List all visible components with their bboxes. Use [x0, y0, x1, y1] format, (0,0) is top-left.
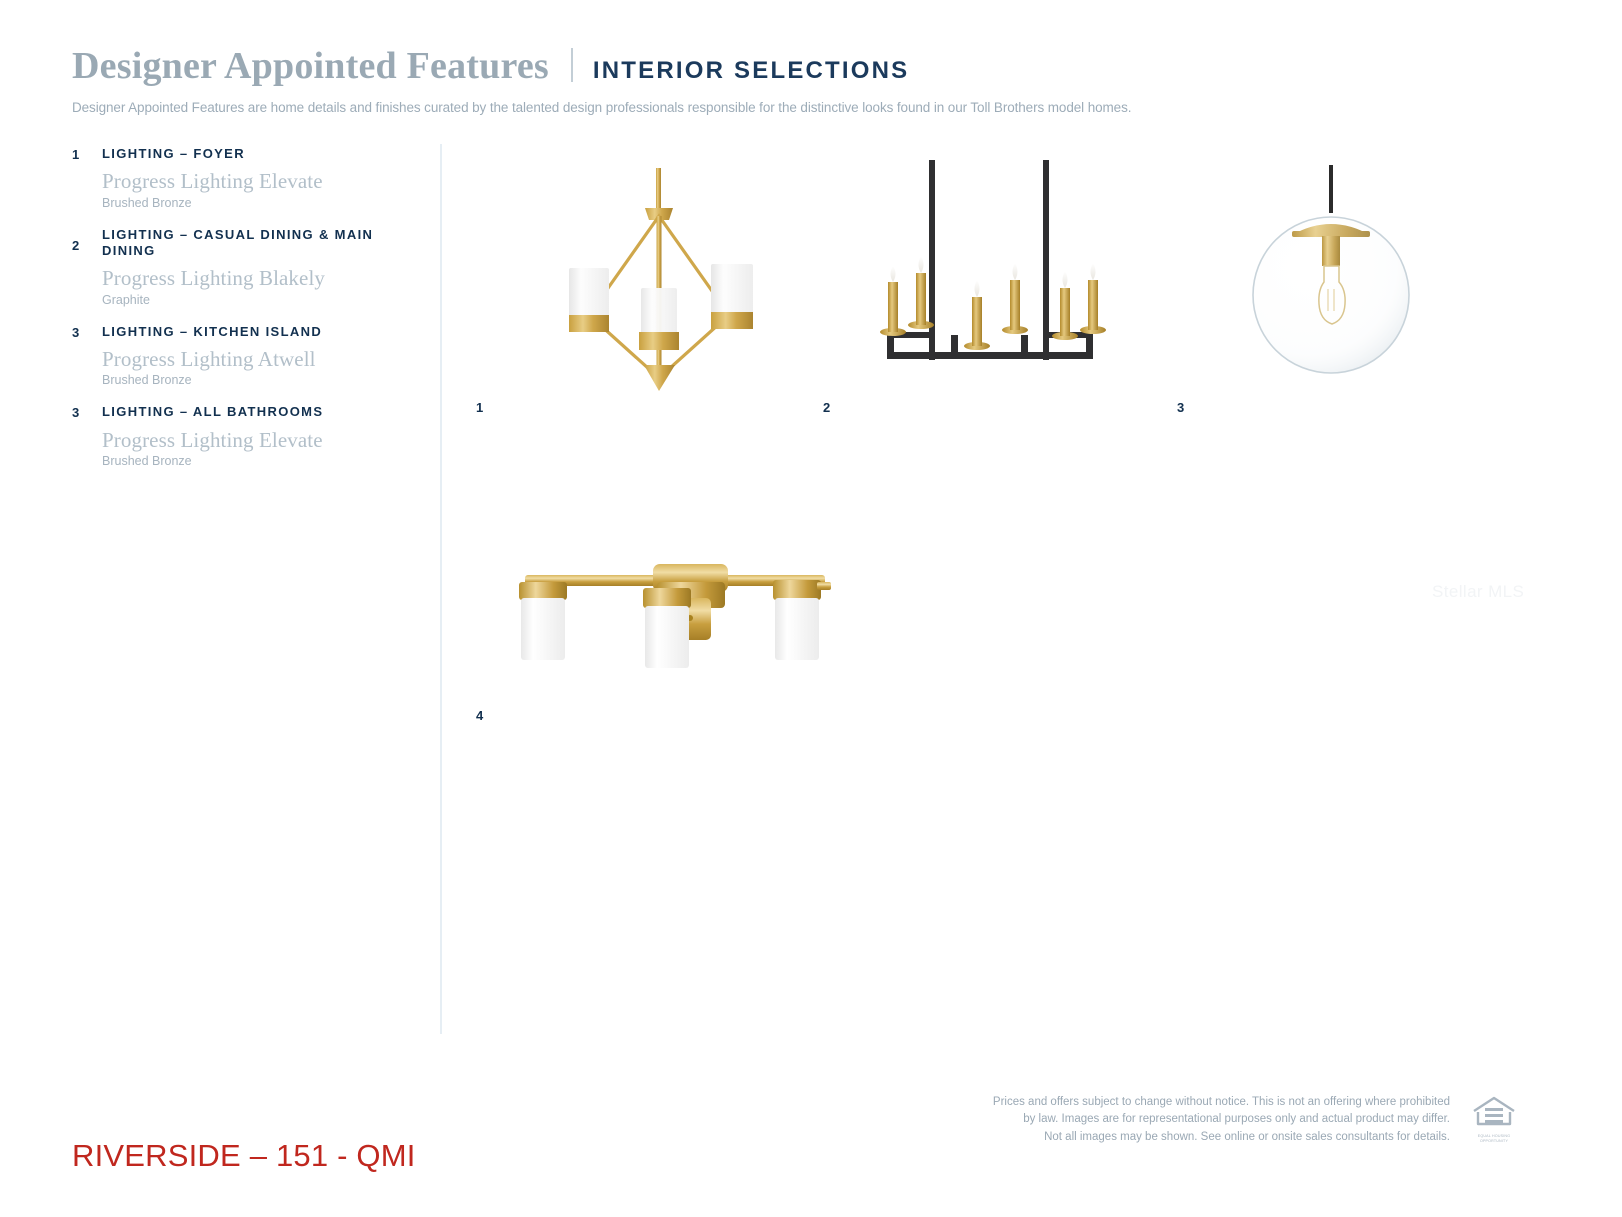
list-item-product: Progress Lighting Elevate: [102, 425, 422, 455]
community-title: RIVERSIDE – 151 - QMI: [72, 1138, 416, 1174]
list-item: 3 LIGHTING – KITCHEN ISLAND Progress Lig…: [72, 324, 422, 403]
figure-number-1: 1: [476, 400, 483, 415]
list-item-finish: Brushed Bronze: [102, 454, 422, 469]
page-header: Designer Appointed Features INTERIOR SEL…: [72, 44, 1532, 115]
title-row: Designer Appointed Features INTERIOR SEL…: [72, 44, 1532, 87]
figure-dining-chandelier: [865, 160, 1115, 390]
equal-housing-opportunity-logo: EQUAL HOUSING OPPORTUNITY: [1466, 1094, 1522, 1143]
figure-number-2: 2: [823, 400, 830, 415]
selections-list: 1 LIGHTING – FOYER Progress Lighting Ele…: [72, 146, 422, 485]
header-description: Designer Appointed Features are home det…: [72, 100, 1532, 115]
list-item-product: Progress Lighting Elevate: [102, 166, 422, 196]
list-item-product: Progress Lighting Blakely: [102, 263, 422, 293]
legal-line-3: Not all images may be shown. See online …: [993, 1129, 1450, 1146]
list-item-number: 3: [72, 404, 102, 420]
figure-island-pendant: [1240, 165, 1430, 390]
page-title: Designer Appointed Features: [72, 47, 549, 87]
list-item-category: LIGHTING – CASUAL DINING & MAIN DINING: [102, 227, 422, 260]
list-item-number: 3: [72, 324, 102, 340]
globe-pendant-icon: [1240, 165, 1430, 390]
list-item-category: LIGHTING – FOYER: [102, 146, 422, 162]
dining-linear-chandelier-icon: [865, 160, 1115, 390]
eho-caption-line-2: OPPORTUNITY: [1466, 1139, 1522, 1143]
figure-foyer-chandelier: [545, 160, 775, 400]
list-item-product: Progress Lighting Atwell: [102, 344, 422, 374]
list-item-finish: Brushed Bronze: [102, 196, 422, 211]
eho-caption-line-1: EQUAL HOUSING: [1466, 1134, 1522, 1138]
vanity-bar-icon: [505, 540, 845, 670]
figure-bathroom-vanity: [505, 540, 845, 670]
equal-housing-icon: [1471, 1094, 1517, 1128]
vertical-divider: [440, 144, 442, 1034]
list-item-finish: Brushed Bronze: [102, 373, 422, 388]
list-item-number: 2: [72, 227, 102, 253]
brochure-page: Designer Appointed Features INTERIOR SEL…: [0, 0, 1622, 1217]
legal-line-1: Prices and offers subject to change with…: [993, 1094, 1450, 1111]
list-item: 3 LIGHTING – ALL BATHROOMS Progress Ligh…: [72, 404, 422, 483]
legal-disclaimer: Prices and offers subject to change with…: [993, 1094, 1450, 1146]
legal-line-2: by law. Images are for representational …: [993, 1111, 1450, 1128]
foyer-chandelier-icon: [545, 160, 775, 400]
list-item-number: 1: [72, 146, 102, 162]
figure-number-4: 4: [476, 708, 483, 723]
stellar-mls-watermark: Stellar MLS: [1432, 582, 1524, 602]
title-divider: [571, 48, 573, 82]
list-item: 2 LIGHTING – CASUAL DINING & MAIN DINING…: [72, 227, 422, 322]
list-item: 1 LIGHTING – FOYER Progress Lighting Ele…: [72, 146, 422, 225]
list-item-category: LIGHTING – ALL BATHROOMS: [102, 404, 422, 420]
figure-number-3: 3: [1177, 400, 1184, 415]
list-item-category: LIGHTING – KITCHEN ISLAND: [102, 324, 422, 340]
page-subtitle: INTERIOR SELECTIONS: [593, 57, 910, 85]
list-item-finish: Graphite: [102, 293, 422, 308]
